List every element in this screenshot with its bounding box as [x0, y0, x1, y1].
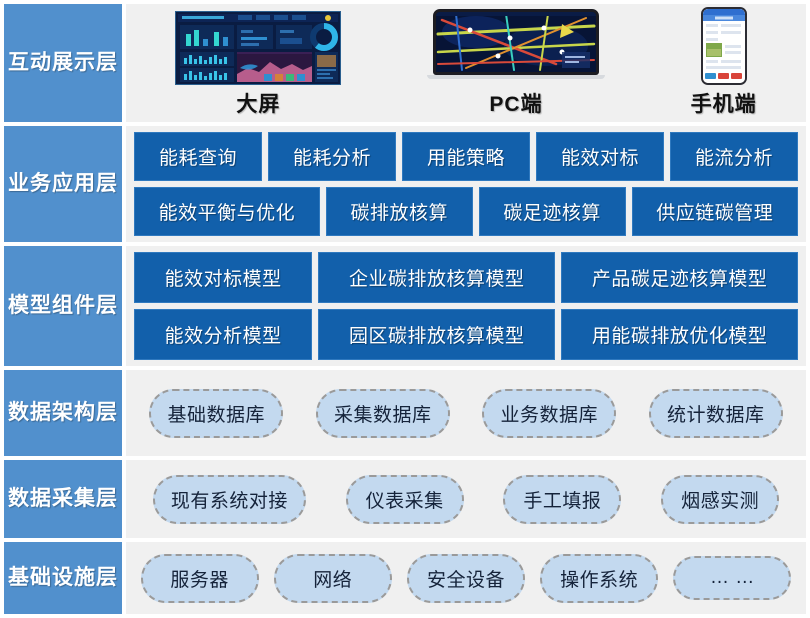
layer-body-display: 大屏	[126, 4, 806, 122]
data-collection-pill-line: 现有系统对接 仪表采集 手工填报 烟感实测	[134, 466, 798, 532]
infra-item-security[interactable]: 安全设备	[407, 554, 525, 603]
device-caption-pc: PC端	[489, 88, 542, 118]
business-item-energy-analysis[interactable]: 能耗分析	[268, 132, 396, 181]
model-item-enterprise-carbon[interactable]: 企业碳排放核算模型	[318, 252, 555, 303]
business-item-energy-query[interactable]: 能耗查询	[134, 132, 262, 181]
infra-item-os[interactable]: 操作系统	[540, 554, 658, 603]
device-pc[interactable]: PC端	[428, 9, 604, 118]
infra-item-network[interactable]: 网络	[274, 554, 392, 603]
infrastructure-pill-line: 服务器 网络 安全设备 操作系统 … …	[134, 548, 798, 608]
data-collect-item-manual-entry[interactable]: 手工填报	[503, 475, 621, 524]
architecture-diagram: 互动展示层	[0, 0, 810, 618]
laptop-base	[427, 75, 605, 79]
smartphone-form-icon	[701, 7, 747, 85]
laptop-screen	[433, 9, 599, 75]
business-item-energy-flow[interactable]: 能流分析	[670, 132, 798, 181]
laptop-map-svg	[436, 12, 596, 72]
business-item-supply-chain-carbon[interactable]: 供应链碳管理	[632, 187, 798, 236]
data-arch-item-basic-db[interactable]: 基础数据库	[149, 389, 283, 438]
model-item-product-footprint[interactable]: 产品碳足迹核算模型	[561, 252, 798, 303]
layer-body-data-architecture: 基础数据库 采集数据库 业务数据库 统计数据库	[126, 370, 806, 456]
layer-row-display: 互动展示层	[4, 4, 806, 122]
model-item-energy-carbon-optimize[interactable]: 用能碳排放优化模型	[561, 309, 798, 360]
data-collect-item-meter[interactable]: 仪表采集	[346, 475, 464, 524]
layer-label-infrastructure: 基础设施层	[4, 542, 122, 614]
model-box-grid: 能效对标模型 企业碳排放核算模型 产品碳足迹核算模型 能效分析模型 园区碳排放核…	[134, 252, 798, 360]
data-arch-item-statistics-db[interactable]: 统计数据库	[649, 389, 783, 438]
business-line-2: 能效平衡与优化 碳排放核算 碳足迹核算 供应链碳管理	[134, 187, 798, 236]
business-box-grid: 能耗查询 能耗分析 用能策略 能效对标 能流分析 能效平衡与优化 碳排放核算 碳…	[134, 132, 798, 236]
infra-item-more[interactable]: … …	[673, 556, 791, 600]
business-item-efficiency-benchmark[interactable]: 能效对标	[536, 132, 664, 181]
business-item-carbon-accounting[interactable]: 碳排放核算	[326, 187, 473, 236]
layer-label-display: 互动展示层	[4, 4, 122, 122]
device-big-screen[interactable]: 大屏	[175, 11, 341, 118]
business-item-carbon-footprint[interactable]: 碳足迹核算	[479, 187, 626, 236]
device-caption-big-screen: 大屏	[236, 88, 280, 118]
model-item-efficiency-benchmark[interactable]: 能效对标模型	[134, 252, 312, 303]
infra-item-server[interactable]: 服务器	[141, 554, 259, 603]
layer-body-data-collection: 现有系统对接 仪表采集 手工填报 烟感实测	[126, 460, 806, 538]
layer-label-data-architecture: 数据架构层	[4, 370, 122, 456]
data-arch-item-business-db[interactable]: 业务数据库	[482, 389, 616, 438]
laptop-map-icon	[428, 9, 604, 85]
model-item-efficiency-analysis[interactable]: 能效分析模型	[134, 309, 312, 360]
layer-row-infrastructure: 基础设施层 服务器 网络 安全设备 操作系统 … …	[4, 542, 806, 614]
data-arch-item-collection-db[interactable]: 采集数据库	[316, 389, 450, 438]
data-collect-item-smoke-sensor[interactable]: 烟感实测	[661, 475, 779, 524]
layer-body-model: 能效对标模型 企业碳排放核算模型 产品碳足迹核算模型 能效分析模型 园区碳排放核…	[126, 246, 806, 366]
data-collect-item-existing-system[interactable]: 现有系统对接	[153, 475, 306, 524]
business-item-energy-strategy[interactable]: 用能策略	[402, 132, 530, 181]
layer-label-model: 模型组件层	[4, 246, 122, 366]
device-caption-mobile: 手机端	[691, 88, 757, 118]
layer-row-data-architecture: 数据架构层 基础数据库 采集数据库 业务数据库 统计数据库	[4, 370, 806, 456]
model-item-park-carbon[interactable]: 园区碳排放核算模型	[318, 309, 555, 360]
layer-row-business: 业务应用层 能耗查询 能耗分析 用能策略 能效对标 能流分析 能效平衡与优化 碳…	[4, 126, 806, 242]
layer-body-infrastructure: 服务器 网络 安全设备 操作系统 … …	[126, 542, 806, 614]
layer-label-business: 业务应用层	[4, 126, 122, 242]
model-line-1: 能效对标模型 企业碳排放核算模型 产品碳足迹核算模型	[134, 252, 798, 303]
smartphone-form-svg	[703, 9, 745, 83]
big-screen-dashboard-icon	[175, 11, 341, 85]
device-mobile[interactable]: 手机端	[691, 7, 757, 118]
model-line-2: 能效分析模型 园区碳排放核算模型 用能碳排放优化模型	[134, 309, 798, 360]
data-architecture-pill-line: 基础数据库 采集数据库 业务数据库 统计数据库	[134, 376, 798, 450]
business-line-1: 能耗查询 能耗分析 用能策略 能效对标 能流分析	[134, 132, 798, 181]
layer-row-data-collection: 数据采集层 现有系统对接 仪表采集 手工填报 烟感实测	[4, 460, 806, 538]
business-item-efficiency-balance[interactable]: 能效平衡与优化	[134, 187, 320, 236]
big-screen-dashboard-svg	[176, 12, 340, 84]
layer-label-data-collection: 数据采集层	[4, 460, 122, 538]
layer-row-model: 模型组件层 能效对标模型 企业碳排放核算模型 产品碳足迹核算模型 能效分析模型 …	[4, 246, 806, 366]
layer-body-business: 能耗查询 能耗分析 用能策略 能效对标 能流分析 能效平衡与优化 碳排放核算 碳…	[126, 126, 806, 242]
